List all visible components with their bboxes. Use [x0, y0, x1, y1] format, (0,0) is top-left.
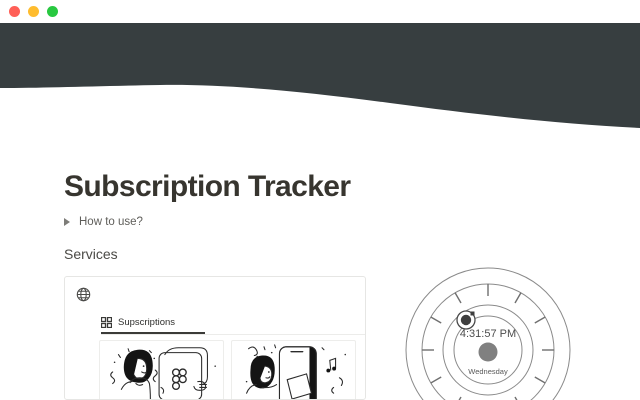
- tab-supscriptions[interactable]: Supscriptions: [101, 313, 205, 334]
- clock-weekday: Wednesday: [468, 367, 508, 376]
- clock-time: 4:31:57 PM: [460, 328, 516, 340]
- page-title: Subscription Tracker: [64, 170, 350, 204]
- app-window: Subscription Tracker How to use? Service…: [0, 0, 640, 400]
- maximize-button[interactable]: [47, 6, 58, 17]
- how-to-use-label: How to use?: [79, 215, 143, 229]
- music-phone-illustration[interactable]: [231, 340, 356, 400]
- window-titlebar: [0, 0, 640, 23]
- header-wave-banner: [0, 23, 640, 135]
- orbital-clock-widget: 4:31:57 PM Wednesday: [404, 262, 572, 400]
- card-tab-bar: Supscriptions: [101, 313, 366, 335]
- how-to-use-toggle[interactable]: How to use?: [64, 214, 143, 230]
- subscription-thumbnail-row: [99, 340, 356, 400]
- tab-label: Supscriptions: [118, 317, 175, 328]
- close-button[interactable]: [9, 6, 20, 17]
- triangle-right-icon[interactable]: [64, 218, 70, 226]
- globe-icon: [76, 287, 91, 302]
- figma-illustration[interactable]: [99, 340, 224, 400]
- grid-icon: [101, 317, 112, 328]
- section-heading-services: Services: [64, 245, 118, 263]
- minimize-button[interactable]: [28, 6, 39, 17]
- traffic-light-group: [0, 6, 58, 17]
- services-embed-card[interactable]: Supscriptions: [64, 276, 366, 400]
